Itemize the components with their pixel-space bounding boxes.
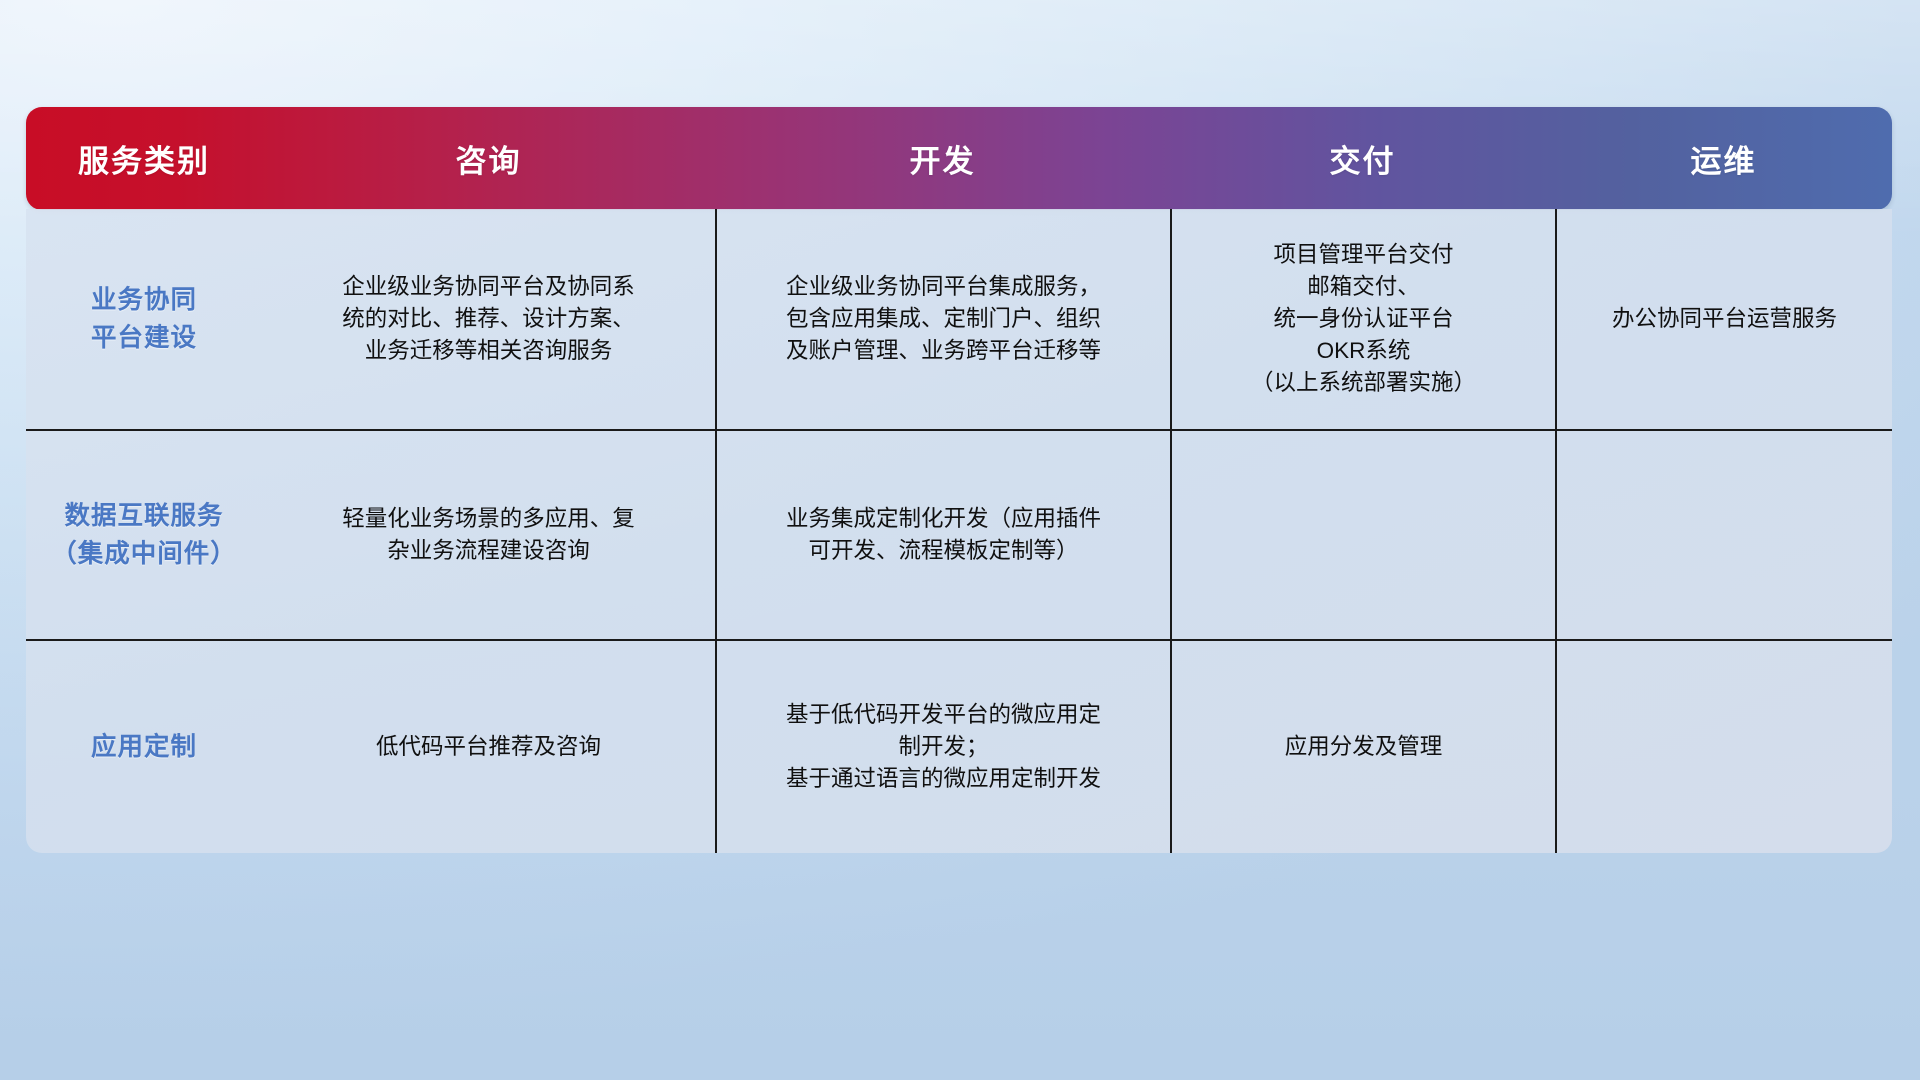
cell-delivery: 项目管理平台交付 邮箱交付、 统一身份认证平台 OKR系统 （以上系统部署实施）: [1170, 209, 1555, 429]
column-header-development: 开发: [715, 107, 1170, 210]
cell-development: 基于低代码开发平台的微应用定 制开发； 基于通过语言的微应用定制开发: [715, 641, 1170, 853]
table-header-row: 服务类别 咨询 开发 交付 运维: [26, 107, 1892, 210]
column-header-category: 服务类别: [26, 107, 262, 210]
cell-delivery: [1170, 431, 1555, 639]
column-header-delivery: 交付: [1170, 107, 1555, 210]
table-row: 业务协同 平台建设 企业级业务协同平台及协同系 统的对比、推荐、设计方案、 业务…: [26, 209, 1892, 429]
cell-consulting: 轻量化业务场景的多应用、复 杂业务流程建设咨询: [262, 431, 715, 639]
cell-development: 企业级业务协同平台集成服务， 包含应用集成、定制门户、组织 及账户管理、业务跨平…: [715, 209, 1170, 429]
cell-operations: [1555, 641, 1892, 853]
row-category-label: 业务协同 平台建设: [26, 209, 262, 429]
slide-canvas: 服务类别 咨询 开发 交付 运维 业务协同 平台建设 企业级业务协同平台及协同系…: [0, 0, 1920, 1080]
cell-development: 业务集成定制化开发（应用插件 可开发、流程模板定制等）: [715, 431, 1170, 639]
row-category-label: 数据互联服务 （集成中间件）: [26, 431, 262, 639]
cell-operations: [1555, 431, 1892, 639]
row-category-label: 应用定制: [26, 641, 262, 853]
service-matrix-table: 服务类别 咨询 开发 交付 运维 业务协同 平台建设 企业级业务协同平台及协同系…: [26, 107, 1892, 853]
cell-operations: 办公协同平台运营服务: [1555, 209, 1892, 429]
cell-delivery: 应用分发及管理: [1170, 641, 1555, 853]
table-body: 业务协同 平台建设 企业级业务协同平台及协同系 统的对比、推荐、设计方案、 业务…: [26, 209, 1892, 853]
column-header-consulting: 咨询: [262, 107, 715, 210]
column-header-operations: 运维: [1555, 107, 1892, 210]
table-row: 应用定制 低代码平台推荐及咨询 基于低代码开发平台的微应用定 制开发； 基于通过…: [26, 639, 1892, 853]
table-row: 数据互联服务 （集成中间件） 轻量化业务场景的多应用、复 杂业务流程建设咨询 业…: [26, 429, 1892, 639]
cell-consulting: 低代码平台推荐及咨询: [262, 641, 715, 853]
cell-consulting: 企业级业务协同平台及协同系 统的对比、推荐、设计方案、 业务迁移等相关咨询服务: [262, 209, 715, 429]
